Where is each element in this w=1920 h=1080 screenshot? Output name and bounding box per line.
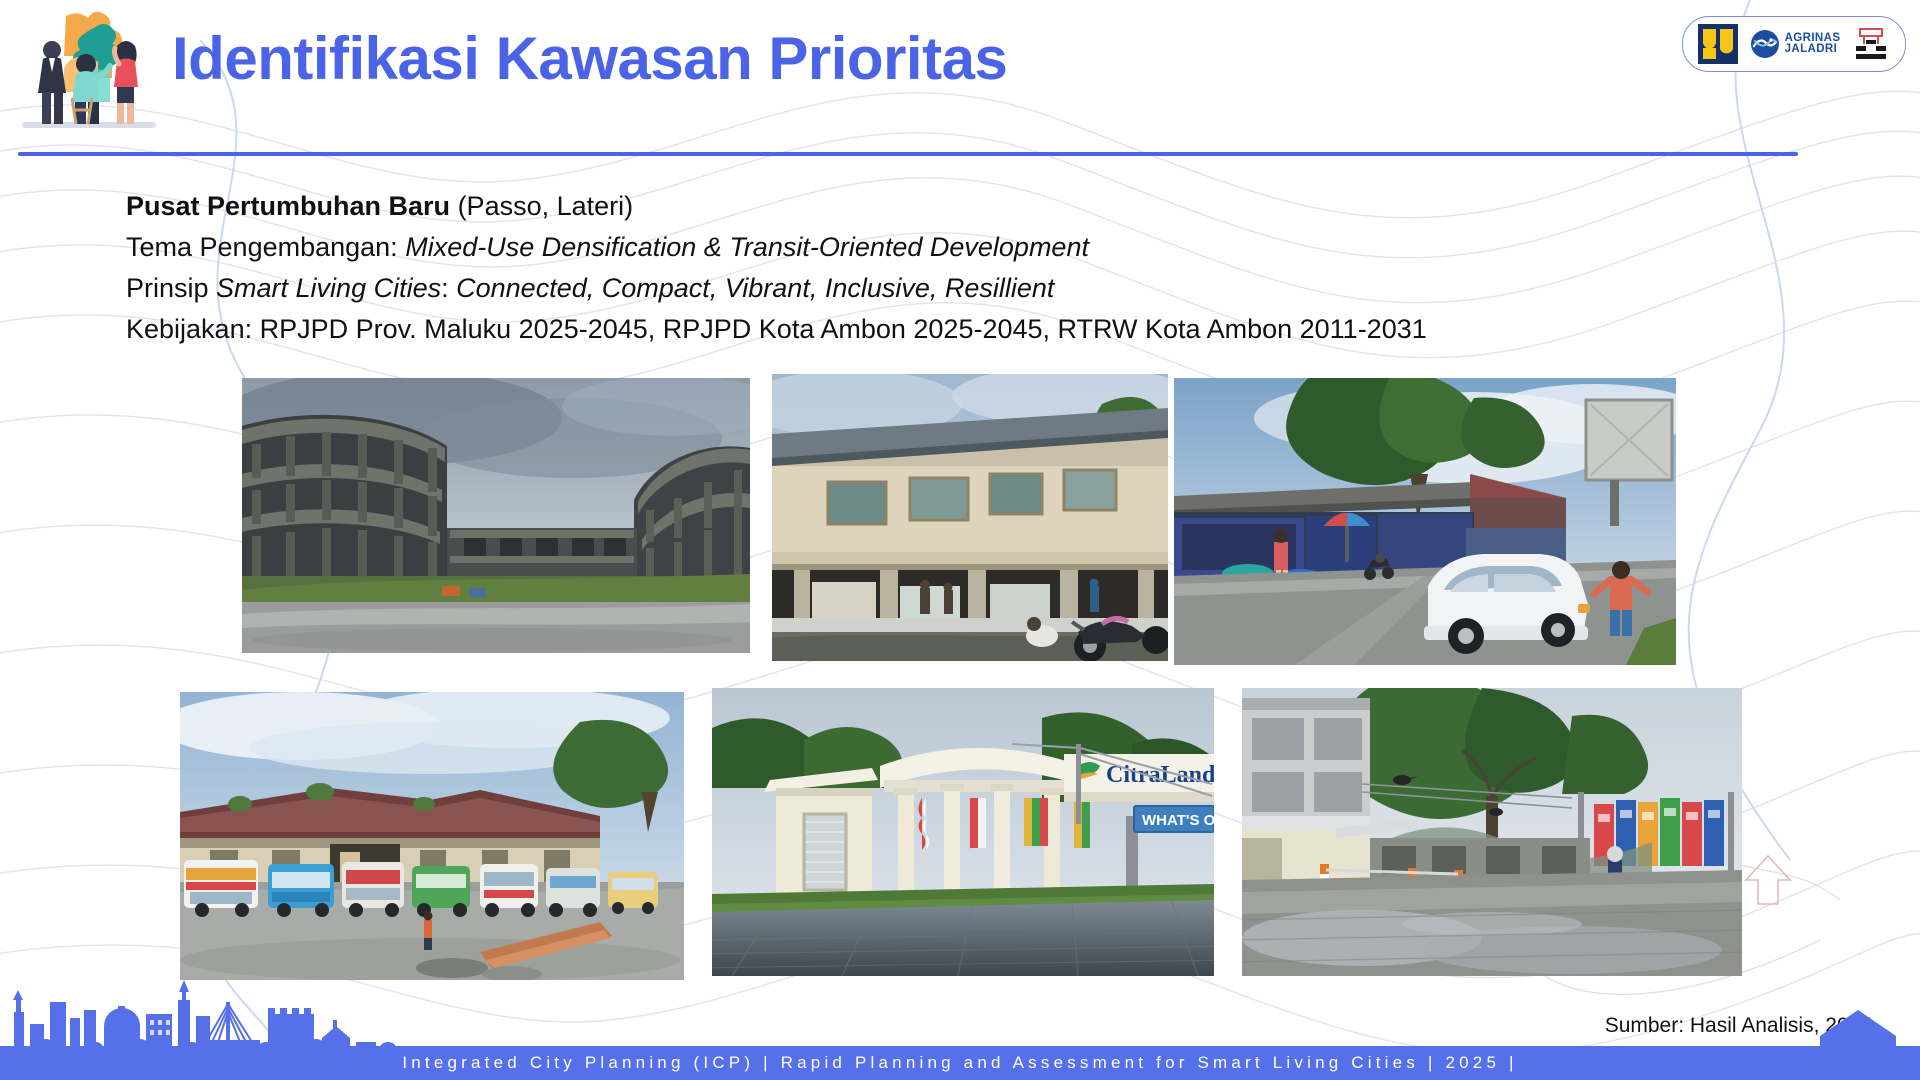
photo-citraland-gate: CitraLand	[712, 688, 1214, 976]
footer-bar: Integrated City Planning (ICP) | Rapid P…	[0, 1046, 1920, 1080]
footer-text: Integrated City Planning (ICP) | Rapid P…	[402, 1053, 1517, 1073]
photo-old-market-building	[772, 374, 1168, 661]
street-sign-text: WHAT'S O	[1142, 812, 1214, 829]
photo-abandoned-concrete-building	[242, 378, 750, 653]
city-skyline-silhouette-icon	[0, 966, 440, 1056]
photo-roadside-shophouses	[1242, 688, 1742, 976]
house-corner-shape-icon	[1800, 1010, 1920, 1080]
photo-gallery: CitraLand	[0, 0, 1920, 1080]
citraland-sign-text: CitraLand	[1106, 762, 1214, 788]
photo-bus-terminal	[180, 692, 684, 980]
photo-street-market-stalls	[1174, 378, 1676, 665]
slide-canvas: Identifikasi Kawasan Prioritas AGRINAS J…	[0, 0, 1920, 1080]
